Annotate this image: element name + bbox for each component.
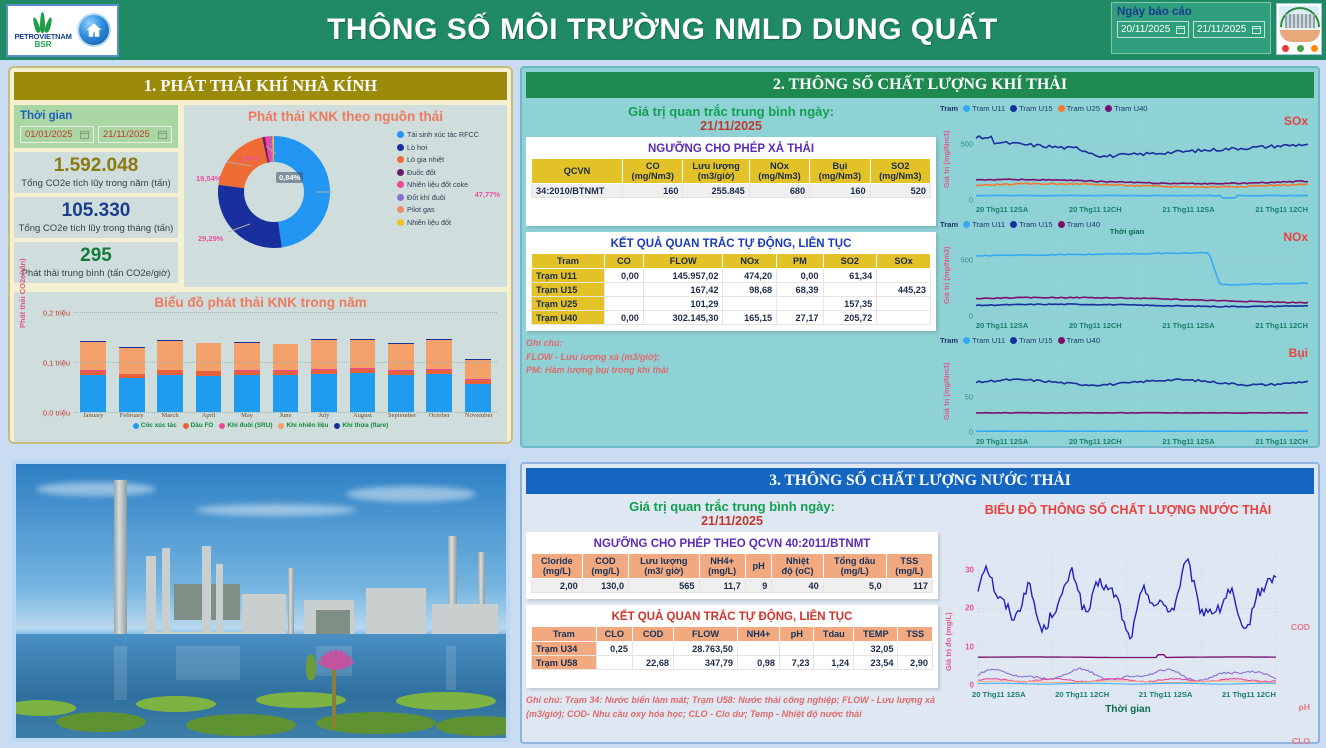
- table-cell: [898, 642, 933, 656]
- table-header-row: QCVNCO(mg/Nm3)Lưu lượng(m3/giờ)NOx(mg/Nm…: [532, 159, 931, 184]
- table-row[interactable]: Trạm U5822,68347,790,987,231,2423,542,90: [532, 656, 933, 670]
- kpi-value: 1.592.048: [18, 155, 174, 177]
- table-cell: [596, 656, 632, 670]
- time-filter-label: Thời gian: [20, 110, 172, 122]
- legend-color-dot: [133, 423, 139, 429]
- table-cell: 101,29: [643, 297, 723, 311]
- bar-chart-title: Biểu đồ phát thải KNK trong năm: [18, 295, 503, 310]
- header-date-from[interactable]: 20/11/2025: [1117, 21, 1189, 38]
- panel2-results-table: TramCOFLOWNOxPMSO2SOx Trạm U110,00145.95…: [531, 253, 931, 325]
- column-header[interactable]: FLOW: [674, 627, 738, 642]
- panel3-chart-plot: 0102030: [978, 551, 1276, 685]
- kpi-label: Tổng CO2e tích lũy trong năm (tấn): [18, 178, 174, 189]
- table-cell: 160: [810, 184, 870, 198]
- legend-color-dot: [963, 337, 970, 344]
- chart-plot: 0500: [976, 122, 1308, 200]
- column-header[interactable]: Tdau: [814, 627, 854, 642]
- column-header[interactable]: NH4+(mg/L): [699, 554, 745, 579]
- table-cell: 98,68: [723, 283, 777, 297]
- x-tick-label: November: [465, 412, 491, 419]
- table-cell: 117: [886, 579, 932, 593]
- table-cell: 0,98: [738, 656, 780, 670]
- calendar-icon: [1252, 26, 1261, 34]
- table-cell: 474,20: [723, 269, 777, 283]
- column-header[interactable]: CO: [604, 254, 643, 269]
- panel2-results-card: KẾT QUẢ QUAN TRẮC TỰ ĐỘNG, LIÊN TỤC Tram…: [526, 232, 936, 331]
- gridline: 0,0 triệu: [74, 412, 497, 413]
- panel3-chart-xlabel: Thời gian: [942, 704, 1314, 715]
- table-cell: 61,34: [823, 269, 877, 283]
- bar-segment: [157, 375, 183, 412]
- x-tick-label: May: [234, 412, 260, 419]
- legend-color-dot: [1010, 105, 1017, 112]
- legend-label: Khí thừa (flare): [342, 422, 388, 429]
- report-date-label: Ngày báo cáo: [1117, 6, 1265, 18]
- column-header[interactable]: PM: [777, 254, 823, 269]
- legend-color-dot: [219, 423, 225, 429]
- y-tick-label: 500: [961, 140, 973, 149]
- kpi-list: 1.592.048 Tổng CO2e tích lũy trong năm (…: [14, 152, 178, 283]
- panel1-date-to-value: 21/11/2025: [103, 129, 150, 140]
- bar-legend-item[interactable]: Dầu FO: [183, 422, 214, 429]
- panel2-note-title: Ghi chú:: [526, 337, 936, 351]
- panel2-charts: TramTram U11Tram U15Tram U25Tram U40 SOx…: [940, 104, 1314, 452]
- table-row[interactable]: Trạm U15167,4298,6868,39445,23: [532, 283, 931, 297]
- kpi-card: 295 Phát thải trung bình (tấn CO2e/giờ): [14, 242, 178, 283]
- legend-item[interactable]: Tram U11: [963, 104, 1005, 113]
- legend-color-dot: [397, 131, 404, 138]
- panel3-note: Ghi chú: Trạm 34: Nước biển làm mát; Trạ…: [526, 694, 938, 721]
- donut-svg: [204, 126, 344, 258]
- bar-segment: [311, 340, 337, 369]
- legend-item[interactable]: Tram U40: [1058, 220, 1100, 229]
- x-tick-label: 21 Thg11 12SA: [1139, 690, 1193, 699]
- column-header[interactable]: NOx(mg/Nm3): [749, 159, 809, 184]
- bar-segment: [388, 375, 414, 412]
- table-header-row: Cloride(mg/L)COD(mg/L)Lưu lượng(m3/ giờ)…: [532, 554, 933, 579]
- kpi-label: Tổng CO2e tích lũy trong tháng (tấn): [18, 223, 174, 234]
- donut-legend-item[interactable]: Pilot gas: [397, 205, 503, 214]
- donut-legend-item[interactable]: Lò hơi: [397, 143, 503, 152]
- legend-color-dot: [183, 423, 189, 429]
- chart-ylabel: Giá trị (mg/Nm3): [942, 247, 951, 305]
- panel2-note-line1: FLOW - Lưu lượng xả (m3/giờ);: [526, 351, 936, 365]
- legend-label: Pilot gas: [407, 205, 435, 214]
- time-filter: Thời gian 01/01/2025 21/11/2025: [14, 105, 178, 148]
- chart-legend: TramTram U11Tram U15Tram U25Tram U40: [940, 104, 1314, 113]
- table-cell: Trạm U25: [532, 297, 605, 311]
- table-cell: 11,7: [699, 579, 745, 593]
- chart-plot: 0500: [976, 238, 1308, 316]
- table-cell: 0,00: [604, 311, 643, 325]
- x-tick-label: 21 Thg11 12SA: [1162, 205, 1214, 214]
- bar-segment: [273, 375, 299, 412]
- bar-chart-ylabel: Phát thải CO2e(tấn): [18, 258, 27, 328]
- panel2-note: Ghi chú: FLOW - Lưu lượng xả (m3/giờ); P…: [526, 337, 936, 378]
- column-header[interactable]: TSS: [898, 627, 933, 642]
- table-cell: 160: [623, 184, 683, 198]
- panel3-note-text: Trạm 34: Nước biển làm mát; Trạm U58: Nư…: [526, 695, 935, 719]
- column-header[interactable]: pH: [745, 554, 772, 579]
- table-cell: 0,00: [604, 269, 643, 283]
- legend-color-dot: [1058, 105, 1065, 112]
- bar-segment: [234, 343, 260, 370]
- table-cell: Trạm U40: [532, 311, 605, 325]
- brand-logo: PETROVIETNAM BSR: [6, 4, 119, 57]
- panel3-threshold-card: NGƯỠNG CHO PHÉP THEO QCVN 40:2011/BTNMT …: [526, 532, 938, 599]
- kpi-card: 105.330 Tổng CO2e tích lũy trong tháng (…: [14, 197, 178, 238]
- y-tick-label: 20: [965, 604, 974, 613]
- panel1-date-to[interactable]: 21/11/2025: [98, 126, 172, 143]
- x-tick-label: 20 Thg11 12SA: [972, 690, 1026, 699]
- legend-color-dot: [397, 219, 404, 226]
- panel3-date: 21/11/2025: [526, 514, 938, 528]
- table-row: 2,00130,056511,79405,0117: [532, 579, 933, 593]
- table-cell: [633, 642, 674, 656]
- x-tick-label: February: [119, 412, 145, 419]
- table-row[interactable]: Trạm U110,00145.957,02474,200,0061,34: [532, 269, 931, 283]
- bar-segment: [196, 376, 222, 413]
- donut-legend-item[interactable]: Tái sinh xúc tác RFCC: [397, 130, 503, 139]
- table-cell: 0,00: [777, 269, 823, 283]
- bar-legend-item[interactable]: Cốc xúc tác: [133, 422, 177, 429]
- column-header[interactable]: TEMP: [854, 627, 898, 642]
- legend-title: Tram: [940, 104, 958, 113]
- legend-label: Đốt khí đuôi: [407, 193, 445, 202]
- panel3-chart-title: BIỂU ĐỒ THÔNG SỐ CHẤT LƯỢNG NƯỚC THẢI: [942, 503, 1314, 517]
- bar-legend-item[interactable]: Khí nhiên liệu: [278, 422, 328, 429]
- bar-segment: [80, 342, 106, 370]
- panel2-threshold-caption: NGƯỠNG CHO PHÉP XẢ THẢI: [531, 141, 931, 158]
- table-row[interactable]: Trạm U25101,29157,35: [532, 297, 931, 311]
- y-tick-label: 0,2 triệu: [43, 309, 70, 318]
- y-tick-label: 500: [961, 256, 973, 265]
- column-header[interactable]: NH4+: [738, 627, 780, 642]
- bar-legend-item[interactable]: Khí đuôi (SRU): [219, 422, 272, 429]
- legend-item[interactable]: Tram U15: [1010, 104, 1052, 113]
- table-cell: 1,24: [814, 656, 854, 670]
- table-cell: Trạm U34: [532, 642, 597, 656]
- y-tick-label: 0,1 triệu: [43, 359, 70, 368]
- chart-sox: TramTram U11Tram U15Tram U25Tram U40 SOx…: [940, 104, 1314, 216]
- panel2-results-caption: KẾT QUẢ QUAN TRẮC TỰ ĐỘNG, LIÊN TỤC: [531, 236, 931, 253]
- bar-chart-legend: Cốc xúc tácDầu FOKhí đuôi (SRU)Khí nhiên…: [18, 422, 503, 429]
- petrovietnam-logo-icon: PETROVIETNAM BSR: [14, 11, 71, 49]
- y-tick-label: 0: [969, 312, 973, 321]
- dashboard-root: PETROVIETNAM BSR THÔNG SỐ MÔI TRƯỜNG NML…: [0, 0, 1326, 748]
- refinery-photo: [12, 460, 510, 742]
- environment-emblem-icon: [1276, 3, 1322, 55]
- x-tick-label: September: [388, 412, 414, 419]
- legend-label: Nhiên liệu đốt coke: [407, 180, 468, 189]
- legend-item[interactable]: Tram U15: [1010, 336, 1052, 345]
- legend-color-dot: [278, 423, 284, 429]
- y-tick-label: 10: [965, 642, 974, 651]
- table-cell: 2,00: [532, 579, 583, 593]
- table-cell: 22,68: [633, 656, 674, 670]
- x-tick-label: October: [426, 412, 452, 419]
- legend-color-dot: [1058, 221, 1065, 228]
- panel2-note-line2: PM: Hàm lượng bụi trong khí thải: [526, 364, 936, 378]
- column-header[interactable]: Cloride(mg/L): [532, 554, 583, 579]
- x-tick-label: July: [311, 412, 337, 419]
- column-header[interactable]: FLOW: [643, 254, 723, 269]
- bar-segment: [119, 378, 145, 412]
- calendar-icon: [1176, 26, 1185, 34]
- bar-segment: [196, 343, 222, 370]
- legend-color-dot: [397, 169, 404, 176]
- donut-legend-item[interactable]: Lò gia nhiệt: [397, 155, 503, 164]
- table-cell: 0,25: [596, 642, 632, 656]
- panel1-date-from-value: 01/01/2025: [25, 129, 73, 140]
- legend-color-dot: [397, 156, 404, 163]
- x-tick-label: 21 Thg11 12CH: [1255, 321, 1308, 330]
- table-cell: [823, 283, 877, 297]
- panel3-note-title: Ghi chú:: [526, 695, 563, 705]
- legend-color-dot: [963, 105, 970, 112]
- table-cell: Trạm U58: [532, 656, 597, 670]
- flame-icon: [33, 11, 53, 33]
- bar-segment: [350, 340, 376, 369]
- calendar-icon: [80, 131, 89, 139]
- donut-label-1: 1,49%: [238, 154, 259, 163]
- series-label: COD: [1291, 622, 1310, 632]
- column-header[interactable]: Tram: [532, 627, 597, 642]
- table-header-row: TramCOFLOWNOxPMSO2SOx: [532, 254, 931, 269]
- panel2-subtitle: Giá trị quan trắc trung bình ngày:: [526, 104, 936, 119]
- panel3-chart-xaxis: 20 Thg11 12SA20 Thg11 12CH21 Thg11 12SA2…: [972, 690, 1276, 699]
- panel1-date-from[interactable]: 01/01/2025: [20, 126, 94, 143]
- bar-segment: [119, 348, 145, 374]
- table-cell: 32,05: [854, 642, 898, 656]
- x-tick-label: 20 Thg11 12CH: [1069, 321, 1122, 330]
- table-header-row: TramCLOCODFLOWNH4+pHTdauTEMPTSS: [532, 627, 933, 642]
- donut-legend-item[interactable]: Nhiên liệu đốt: [397, 218, 503, 227]
- panel1-title: 1. PHÁT THẢI KHÍ NHÀ KÍNH: [14, 72, 507, 100]
- panel3-threshold-table: Cloride(mg/L)COD(mg/L)Lưu lượng(m3/ giờ)…: [531, 553, 933, 593]
- x-tick-label: 20 Thg11 12CH: [1069, 437, 1122, 446]
- column-header[interactable]: CLO: [596, 627, 632, 642]
- panel2-threshold-card: NGƯỠNG CHO PHÉP XẢ THẢI QCVNCO(mg/Nm3)Lư…: [526, 137, 936, 226]
- chart-ylabel: Giá trị (mg/Nm3): [942, 131, 951, 189]
- x-tick-label: June: [273, 412, 299, 419]
- x-tick-label: 20 Thg11 12SA: [976, 437, 1028, 446]
- y-tick-label: 0: [969, 196, 973, 205]
- table-cell: 157,35: [823, 297, 877, 311]
- table-cell: 23,54: [854, 656, 898, 670]
- panel2-date: 21/11/2025: [526, 119, 936, 133]
- kpi-value: 295: [18, 245, 174, 267]
- table-cell: [877, 311, 931, 325]
- x-tick-label: 21 Thg11 12CH: [1255, 205, 1308, 214]
- table-cell: 145.957,02: [643, 269, 723, 283]
- gridline: 0,1 triệu: [74, 362, 497, 363]
- panel2-threshold-table: QCVNCO(mg/Nm3)Lưu lượng(m3/giờ)NOx(mg/Nm…: [531, 158, 931, 198]
- column-header[interactable]: CO(mg/Nm3): [623, 159, 683, 184]
- page-header: PETROVIETNAM BSR THÔNG SỐ MÔI TRƯỜNG NML…: [0, 0, 1326, 60]
- column-header[interactable]: SOx: [877, 254, 931, 269]
- panel3-threshold-caption: NGƯỠNG CHO PHÉP THEO QCVN 40:2011/BTNMT: [531, 536, 933, 553]
- bar-segment: [388, 344, 414, 370]
- column-header[interactable]: TSS(mg/L): [886, 554, 932, 579]
- legend-item[interactable]: Tram U40: [1105, 104, 1147, 113]
- bar-segment: [465, 384, 491, 412]
- x-tick-label: March: [157, 412, 183, 419]
- panel3-results-card: KẾT QUẢ QUAN TRẮC TỰ ĐỘNG, LIÊN TỤC Tram…: [526, 605, 938, 688]
- legend-label: Tái sinh xúc tác RFCC: [407, 130, 479, 139]
- column-header[interactable]: Tram: [532, 254, 605, 269]
- bar-segment: [234, 375, 260, 412]
- bar-segment: [426, 340, 452, 369]
- header-date-to[interactable]: 21/11/2025: [1193, 21, 1265, 38]
- table-cell: 565: [629, 579, 699, 593]
- table-cell: [877, 297, 931, 311]
- legend-item[interactable]: Tram U25: [1058, 104, 1100, 113]
- donut-legend: Tái sinh xúc tác RFCCLò hơiLò gia nhiệtĐ…: [397, 130, 503, 230]
- x-tick-label: 21 Thg11 12CH: [1222, 690, 1276, 699]
- legend-color-dot: [397, 181, 404, 188]
- kpi-card: 1.592.048 Tổng CO2e tích lũy trong năm (…: [14, 152, 178, 193]
- panel-greenhouse-gas: 1. PHÁT THẢI KHÍ NHÀ KÍNH Thời gian 01/0…: [8, 66, 513, 444]
- panel-water-quality: 3. THÔNG SỐ CHẤT LƯỢNG NƯỚC THẢI Giá trị…: [520, 462, 1320, 744]
- legend-color-dot: [963, 221, 970, 228]
- column-header[interactable]: COD(mg/L): [582, 554, 628, 579]
- chart-nox: TramTram U11Tram U15Tram U40 NOx Giá trị…: [940, 220, 1314, 332]
- home-icon[interactable]: [77, 13, 111, 47]
- column-header[interactable]: pH: [780, 627, 814, 642]
- table-row[interactable]: Trạm U340,2528.763,5032,05: [532, 642, 933, 656]
- y-tick-label: 0: [970, 681, 974, 690]
- panel3-chart-ylabel: Giá trị đo (mg/L): [944, 612, 953, 671]
- table-cell: Trạm U11: [532, 269, 605, 283]
- donut-legend-item[interactable]: Nhiên liệu đốt coke: [397, 180, 503, 189]
- table-cell: 167,42: [643, 283, 723, 297]
- legend-color-dot: [1010, 221, 1017, 228]
- chart-legend: TramTram U11Tram U15Tram U40: [940, 336, 1314, 345]
- x-tick-label: 20 Thg11 12SA: [976, 321, 1028, 330]
- panel-air-quality: 2. THÔNG SỐ CHẤT LƯỢNG KHÍ THẢI Giá trị …: [520, 66, 1320, 448]
- column-header[interactable]: Nhiệtđộ (oC): [772, 554, 823, 579]
- x-tick-label: 21 Thg11 12SA: [1162, 321, 1214, 330]
- donut-legend-item[interactable]: Đốt khí đuôi: [397, 193, 503, 202]
- bar-segment: [80, 375, 106, 412]
- donut-legend-item[interactable]: Đuốc đốt: [397, 168, 503, 177]
- table-cell: 255.845: [683, 184, 749, 198]
- column-header[interactable]: Lưu lượng(m3/ giờ): [629, 554, 699, 579]
- x-tick-label: January: [80, 412, 106, 419]
- y-tick-label: 30: [965, 566, 974, 575]
- column-header[interactable]: SO2(mg/Nm3): [870, 159, 930, 184]
- legend-label: Nhiên liệu đốt: [407, 218, 451, 227]
- legend-label: Dầu FO: [191, 422, 214, 429]
- chart-bui: TramTram U11Tram U15Tram U40 Bụi Giá trị…: [940, 336, 1314, 448]
- calendar-icon: [158, 131, 167, 139]
- panel3-results-table: TramCLOCODFLOWNH4+pHTdauTEMPTSS Trạm U34…: [531, 626, 933, 670]
- legend-label: Đuốc đốt: [407, 168, 436, 177]
- legend-color-dot: [397, 194, 404, 201]
- table-cell: 27,17: [777, 311, 823, 325]
- kpi-value: 105.330: [18, 200, 174, 222]
- table-cell: [723, 297, 777, 311]
- logo-text-bsr: BSR: [35, 41, 52, 49]
- bar-chart-xlabels: JanuaryFebruaryMarchAprilMayJuneJulyAugu…: [74, 412, 497, 419]
- lotus-flower-icon: [306, 634, 360, 668]
- x-tick-label: 21 Thg11 12SA: [1162, 437, 1214, 446]
- column-header[interactable]: COD: [633, 627, 674, 642]
- donut-chart-title: Phát thải KNK theo nguồn thải: [186, 109, 505, 124]
- table-cell: 68,39: [777, 283, 823, 297]
- x-tick-label: 21 Thg11 12CH: [1255, 437, 1308, 446]
- header-date-to-value: 21/11/2025: [1197, 24, 1246, 35]
- column-header[interactable]: NOx: [723, 254, 777, 269]
- bar-segment: [350, 373, 376, 412]
- table-cell: 2,90: [898, 656, 933, 670]
- legend-label: Cốc xúc tác: [141, 422, 177, 429]
- table-cell: 34:2010/BTNMT: [532, 184, 623, 198]
- panel1-left-column: Thời gian 01/01/2025 21/11/2025: [14, 105, 178, 287]
- donut-chart: 1,49% 19,54% 29,29% 47,77% 0,84% Tái sin…: [186, 124, 505, 259]
- series-label: pH: [1299, 702, 1310, 712]
- chart-ylabel: Giá trị (mg/Nm3): [942, 363, 951, 421]
- panel3-subtitle: Giá trị quan trắc trung bình ngày:: [526, 499, 938, 514]
- legend-color-dot: [397, 144, 404, 151]
- legend-title: Tram: [940, 336, 958, 345]
- column-header[interactable]: QCVN: [532, 159, 623, 184]
- legend-color-dot: [1058, 337, 1065, 344]
- y-tick-label: 0,0 triệu: [43, 409, 70, 418]
- table-cell: [604, 297, 643, 311]
- table-cell: [780, 642, 814, 656]
- legend-label: Khí nhiên liệu: [286, 422, 328, 429]
- header-date-from-value: 20/11/2025: [1121, 24, 1170, 35]
- legend-item[interactable]: Tram U11: [963, 220, 1005, 229]
- legend-item[interactable]: Tram U15: [1010, 220, 1052, 229]
- table-cell: 347,79: [674, 656, 738, 670]
- table-cell: [814, 642, 854, 656]
- panel2-title: 2. THÔNG SỐ CHẤT LƯỢNG KHÍ THẢI: [526, 72, 1314, 98]
- y-tick-label: 50: [965, 392, 973, 401]
- table-cell: Trạm U15: [532, 283, 605, 297]
- report-date-card: Ngày báo cáo 20/11/2025 21/11/2025: [1111, 2, 1271, 54]
- bar-chart-card: Biểu đồ phát thải KNK trong năm Phát thả…: [14, 292, 507, 442]
- column-header[interactable]: Tổng dầu(mg/L): [823, 554, 886, 579]
- x-tick-label: 20 Thg11 12CH: [1055, 690, 1109, 699]
- panel3-title: 3. THÔNG SỐ CHẤT LƯỢNG NƯỚC THẢI: [526, 468, 1314, 494]
- column-header[interactable]: SO2: [823, 254, 877, 269]
- table-cell: [604, 283, 643, 297]
- legend-label: Lò hơi: [407, 143, 427, 152]
- table-cell: 7,23: [780, 656, 814, 670]
- column-header[interactable]: Lưu lượng(m3/giờ): [683, 159, 749, 184]
- panel3-results-caption: KẾT QUẢ QUAN TRẮC TỰ ĐỘNG, LIÊN TỤC: [531, 609, 933, 626]
- table-cell: 302.145,30: [643, 311, 723, 325]
- chart-xaxis: 20 Thg11 12SA20 Thg11 12CH21 Thg11 12SA2…: [976, 205, 1308, 214]
- table-cell: 9: [745, 579, 772, 593]
- column-header[interactable]: Bụi(mg/Nm3): [810, 159, 870, 184]
- table-row: 34:2010/BTNMT160255.845680160520: [532, 184, 931, 198]
- kpi-label: Phát thải trung bình (tấn CO2e/giờ): [18, 268, 174, 279]
- x-tick-label: 20 Thg11 12CH: [1069, 205, 1122, 214]
- gridline: 0,2 triệu: [74, 312, 497, 313]
- bar-legend-item[interactable]: Khí thừa (flare): [334, 422, 388, 429]
- bar-segment: [311, 374, 337, 412]
- chart-xaxis: 20 Thg11 12SA20 Thg11 12CH21 Thg11 12SA2…: [976, 321, 1308, 330]
- legend-color-dot: [397, 206, 404, 213]
- legend-item[interactable]: Tram U11: [963, 336, 1005, 345]
- legend-item[interactable]: Tram U40: [1058, 336, 1100, 345]
- bar-segment: [273, 344, 299, 370]
- table-row[interactable]: Trạm U400,00302.145,30165,1527,17205,72: [532, 311, 931, 325]
